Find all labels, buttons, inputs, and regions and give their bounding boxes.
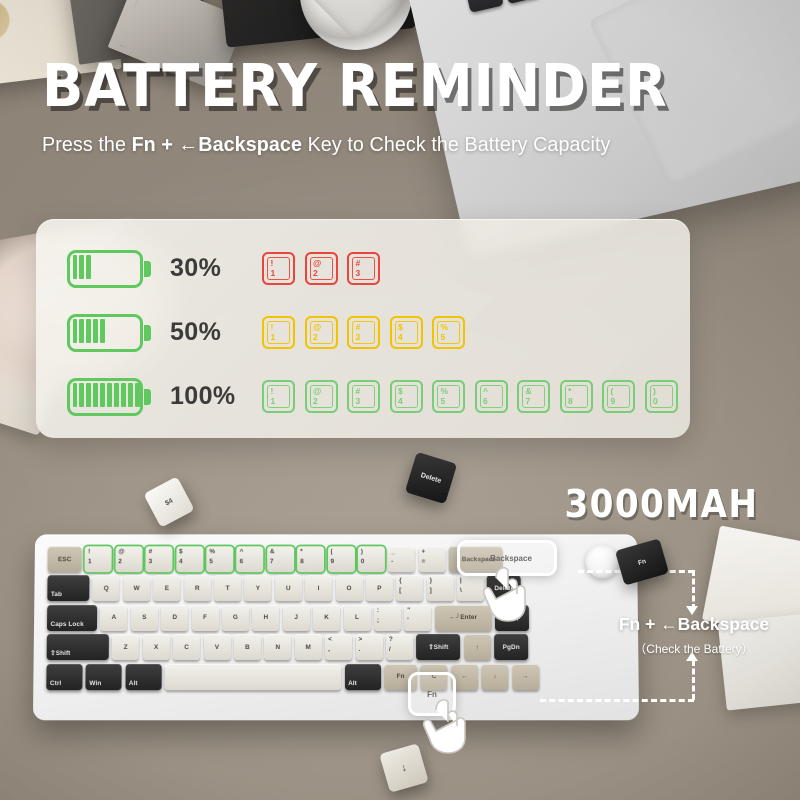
key-y[interactable]: Y — [244, 576, 271, 602]
key-label: Alt — [348, 680, 357, 687]
battery-bar — [73, 383, 77, 407]
key-legend-top: * — [300, 548, 303, 555]
key-enter[interactable]: ←┘Enter — [435, 605, 492, 631]
key-legend-bottom: / — [389, 646, 391, 653]
indicator-keycap: ^6 — [475, 380, 508, 413]
key-2[interactable]: @2 — [115, 546, 142, 572]
key-label: ← — [451, 664, 478, 690]
indicator-keycap: @2 — [305, 316, 338, 349]
key-e[interactable]: E — [153, 576, 180, 602]
key-label: Y — [244, 576, 271, 602]
key-label: D — [161, 605, 188, 631]
key-legend-top: & — [270, 548, 275, 555]
key-label: C — [420, 664, 447, 690]
key-legend-top: + — [421, 548, 425, 555]
key-label: ←Backspace — [449, 546, 503, 572]
indicator-keycap-top-legend: ! — [271, 322, 274, 332]
key-legend-bottom: ] — [430, 587, 432, 594]
key-label: Win — [89, 680, 101, 687]
key-legend-bottom: \ — [460, 587, 462, 594]
key-legend-bottom: - — [391, 558, 393, 565]
indicator-keycap: %5 — [432, 380, 465, 413]
header-block: BATTERY REMINDER Press the Fn + ←Backspa… — [42, 58, 682, 157]
keyboard-row: CtrlWinAltAltFnC←↓→ — [46, 664, 625, 690]
key-alt[interactable]: Alt — [345, 664, 381, 690]
battery-percent-label: 50% — [170, 318, 248, 347]
battery-bar — [73, 319, 77, 343]
callout-line-bottom — [540, 699, 694, 702]
key-legend-bottom: . — [359, 646, 361, 653]
key-legend-bottom: 0 — [361, 558, 365, 565]
indicator-keycap: $4 — [390, 316, 423, 349]
indicator-keycap-bottom-legend: 1 — [271, 268, 276, 278]
key-legend-bottom: 1 — [88, 558, 92, 565]
key-label: H — [252, 605, 279, 631]
indicator-keycap: )0 — [645, 380, 678, 413]
indicator-keycap: %5 — [432, 316, 465, 349]
key-c[interactable]: C — [173, 634, 200, 660]
key-label: J — [283, 605, 310, 631]
key-delete[interactable]: Delete — [487, 576, 521, 602]
key-space[interactable]: ?/ — [386, 634, 413, 660]
indicator-keycap-bottom-legend: 8 — [568, 396, 573, 406]
key-label: L — [344, 605, 371, 631]
subtitle-shortcut: Fn + ←Backspace — [132, 133, 302, 156]
key-label: ←┘Enter — [435, 605, 492, 631]
battery-level-bars — [73, 255, 91, 279]
key-z[interactable]: Z — [112, 634, 139, 660]
key-space[interactable]: _- — [388, 546, 415, 572]
key-space[interactable]: }] — [427, 576, 454, 602]
battery-percent-label: 100% — [170, 382, 248, 411]
key-legend-top: ^ — [240, 548, 244, 555]
key-1[interactable]: !1 — [85, 546, 112, 572]
key-p[interactable]: P — [366, 576, 393, 602]
key-legend-top: # — [149, 548, 153, 555]
key-label: ↑ — [464, 634, 491, 660]
key-7[interactable]: &7 — [267, 546, 294, 572]
key-g[interactable]: G — [222, 605, 249, 631]
indicator-keycap-bottom-legend: 2 — [313, 396, 318, 406]
indicator-keycap: #3 — [347, 380, 380, 413]
battery-bar — [93, 383, 97, 407]
key-win[interactable]: Win — [86, 664, 122, 690]
key-legend-top: | — [460, 578, 462, 585]
battery-bar — [135, 383, 139, 407]
key-fn[interactable]: Fn — [384, 664, 417, 690]
key-label: Ctrl — [50, 680, 62, 687]
key-legend-top: " — [407, 607, 410, 614]
indicator-keycap: !1 — [262, 316, 295, 349]
indicator-key-group: !1@2#3$4%5^6&7*8(9)0 — [262, 380, 678, 413]
battery-legend-row: 30%!1@2#3 — [36, 241, 690, 296]
key-q[interactable]: Q — [93, 576, 120, 602]
indicator-keycap-top-legend: # — [356, 258, 361, 268]
indicator-keycap-top-legend: * — [568, 386, 571, 396]
key-legend-top: ) — [361, 548, 363, 555]
key-legend-top: > — [359, 636, 363, 643]
indicator-keycap-top-legend: % — [441, 322, 449, 332]
key-c[interactable]: C — [420, 664, 447, 690]
indicator-keycap-bottom-legend: 2 — [313, 268, 318, 278]
key-label: F — [192, 605, 219, 631]
key-backspace[interactable]: ←Backspace — [449, 546, 503, 572]
battery-icon — [67, 250, 150, 288]
key-label: G — [222, 605, 249, 631]
battery-bar — [114, 383, 118, 407]
keyboard-row: ⇧ShiftZXCVBNM<,>.?/⇧Shift↑PgDn — [47, 634, 626, 660]
key-label: S — [131, 605, 158, 631]
indicator-keycap-bottom-legend: 4 — [398, 332, 403, 342]
key-label: T — [214, 576, 241, 602]
key-s[interactable]: S — [131, 605, 158, 631]
key-b[interactable]: B — [234, 634, 261, 660]
key-space[interactable]: :; — [374, 605, 401, 631]
indicator-keycap-bottom-legend: 5 — [441, 332, 446, 342]
battery-legend-panel: 30%!1@2#350%!1@2#3$4%5100%!1@2#3$4%5^6&7… — [36, 219, 690, 438]
page-subtitle: Press the Fn + ←Backspace Key to Check t… — [42, 133, 656, 157]
subtitle-suffix: Key to Check the Battery Capacity — [302, 133, 610, 156]
keyboard-keys[interactable]: ESC!1@2#3$4%5^6&7*8(9)0_-+=←BackspaceTab… — [46, 546, 626, 706]
battery-bar — [79, 255, 83, 279]
key-space[interactable]: "' — [404, 605, 431, 631]
key-space[interactable]: |\ — [457, 576, 484, 602]
battery-bar — [73, 255, 77, 279]
battery-bar — [100, 383, 104, 407]
key-9[interactable]: (9 — [328, 546, 355, 572]
key-label: O — [336, 576, 363, 602]
battery-bar — [100, 319, 104, 343]
indicator-keycap-bottom-legend: 3 — [356, 268, 361, 278]
key-v[interactable]: V — [203, 634, 230, 660]
key-a[interactable]: A — [100, 605, 127, 631]
key-w[interactable]: W — [123, 576, 150, 602]
key-label: Delete — [487, 576, 521, 602]
indicator-keycap: $4 — [390, 380, 423, 413]
key-label: ESC — [48, 546, 82, 572]
key-legend-top: ( — [331, 548, 333, 555]
indicator-keycap-bottom-legend: 5 — [441, 396, 446, 406]
key-space[interactable]: ← — [451, 664, 478, 690]
battery-icon — [67, 314, 150, 352]
battery-terminal — [144, 261, 151, 277]
key-label: K — [313, 605, 340, 631]
key-label: Z — [112, 634, 139, 660]
key-u[interactable]: U — [275, 576, 302, 602]
key-ctrl[interactable]: Ctrl — [46, 664, 82, 690]
key-space[interactable]: += — [418, 546, 445, 572]
key-j[interactable]: J — [283, 605, 310, 631]
key-label: R — [184, 576, 211, 602]
indicator-keycap-bottom-legend: 2 — [313, 332, 318, 342]
key-label: E — [153, 576, 180, 602]
key-shift[interactable]: ⇧Shift — [47, 634, 109, 660]
page-title: BATTERY REMINDER — [42, 58, 631, 115]
key-tab[interactable]: Tab — [47, 576, 89, 602]
key-o[interactable]: O — [336, 576, 363, 602]
battery-bar — [93, 319, 97, 343]
key-label: Tab — [51, 591, 62, 598]
indicator-keycap-top-legend: ( — [611, 386, 614, 396]
key-alt[interactable]: Alt — [125, 664, 161, 690]
indicator-keycap-top-legend: # — [356, 322, 361, 332]
key-legend-bottom: 5 — [209, 558, 213, 565]
key-space[interactable]: ↑ — [464, 634, 491, 660]
key-r[interactable]: R — [184, 576, 211, 602]
key-legend-bottom: [ — [399, 587, 401, 594]
keyboard-row: Caps LockASDFGHJKL:;"'←┘EnterPgUp — [47, 605, 625, 631]
indicator-keycap: #3 — [347, 316, 380, 349]
indicator-keycap-top-legend: ^ — [483, 386, 488, 396]
key-label: → — [512, 664, 539, 690]
key-space[interactable]: {[ — [396, 576, 423, 602]
key-space[interactable]: >. — [356, 634, 383, 660]
callout-line-right-top — [692, 570, 695, 610]
key-legend-bottom: 4 — [179, 558, 183, 565]
indicator-keycap-top-legend: % — [441, 386, 449, 396]
key-space[interactable]: → — [512, 664, 539, 690]
key-label: N — [264, 634, 291, 660]
key-label: I — [305, 576, 332, 602]
key-t[interactable]: T — [214, 576, 241, 602]
key-label: ⇧Shift — [50, 649, 70, 657]
indicator-keycap-bottom-legend: 6 — [483, 396, 488, 406]
key-m[interactable]: M — [295, 634, 322, 660]
indicator-keycap: &7 — [517, 380, 550, 413]
callout-shortcut: Fn + ←Backspace — [592, 614, 796, 635]
key-legend-bottom: ; — [377, 617, 379, 624]
indicator-keycap-bottom-legend: 7 — [526, 396, 531, 406]
battery-terminal — [144, 325, 151, 341]
battery-bar — [86, 255, 90, 279]
key-label: ⇧Shift — [416, 634, 460, 660]
key-n[interactable]: N — [264, 634, 291, 660]
key-esc[interactable]: ESC — [48, 546, 82, 572]
key-label: W — [123, 576, 150, 602]
key-label: Caps Lock — [50, 621, 83, 628]
key-label: PgUp — [495, 605, 529, 631]
battery-bar — [79, 383, 83, 407]
key-pgdn[interactable]: PgDn — [494, 634, 528, 660]
key-legend-top: ! — [88, 548, 90, 555]
keyboard[interactable]: ESC!1@2#3$4%5^6&7*8(9)0_-+=←BackspaceTab… — [33, 534, 639, 720]
indicator-keycap: (9 — [602, 380, 635, 413]
indicator-key-group: !1@2#3$4%5 — [262, 316, 465, 349]
key-caps-lock[interactable]: Caps Lock — [47, 605, 97, 631]
indicator-keycap: !1 — [262, 380, 295, 413]
battery-bar — [121, 383, 125, 407]
key-d[interactable]: D — [161, 605, 188, 631]
key-label: PgDn — [494, 634, 528, 660]
key-legend-bottom: 6 — [240, 558, 244, 565]
key-space[interactable]: <, — [325, 634, 352, 660]
battery-icon — [67, 378, 150, 416]
key-label: Q — [93, 576, 120, 602]
key-legend-bottom: = — [421, 558, 425, 565]
key-legend-top: : — [377, 607, 379, 614]
indicator-keycap-top-legend: @ — [313, 258, 321, 268]
key-legend-bottom: 8 — [300, 558, 304, 565]
indicator-keycap-bottom-legend: 9 — [611, 396, 616, 406]
key-label: U — [275, 576, 302, 602]
indicator-keycap-bottom-legend: 3 — [356, 332, 361, 342]
indicator-keycap-bottom-legend: 4 — [398, 396, 403, 406]
key-l[interactable]: L — [344, 605, 371, 631]
battery-bar — [86, 319, 90, 343]
battery-bar — [79, 319, 83, 343]
indicator-keycap-top-legend: # — [356, 386, 361, 396]
key-label — [165, 664, 341, 690]
indicator-key-group: !1@2#3 — [262, 252, 380, 285]
indicator-keycap-top-legend: ! — [271, 258, 274, 268]
key-legend-top: ? — [389, 636, 393, 643]
key-5[interactable]: %5 — [206, 546, 233, 572]
indicator-keycap: @2 — [305, 380, 338, 413]
key-8[interactable]: *8 — [297, 546, 324, 572]
indicator-keycap: !1 — [262, 252, 295, 285]
battery-terminal — [144, 389, 151, 405]
key-label: Alt — [129, 680, 138, 687]
key-4[interactable]: $4 — [176, 546, 203, 572]
key-legend-bottom: 3 — [149, 558, 153, 565]
battery-legend-rows: 30%!1@2#350%!1@2#3$4%5100%!1@2#3$4%5^6&7… — [36, 219, 690, 438]
indicator-keycap-bottom-legend: 0 — [653, 396, 658, 406]
shortcut-callout: Fn + ←Backspace （Check the Battery） — [592, 614, 796, 657]
key-legend-bottom: 7 — [270, 558, 274, 565]
key-legend-top: @ — [118, 548, 124, 555]
keyboard-row: TabQWERTYUIOP{[}]|\Delete — [47, 576, 624, 602]
battery-level-bars — [73, 319, 105, 343]
key-x[interactable]: X — [143, 634, 170, 660]
key-3[interactable]: #3 — [146, 546, 173, 572]
key-label: C — [173, 634, 200, 660]
key-label: Fn — [384, 664, 417, 690]
key-label: B — [234, 634, 261, 660]
key-label: P — [366, 576, 393, 602]
key-legend-bottom: 9 — [331, 558, 335, 565]
key-0[interactable]: )0 — [358, 546, 385, 572]
key-label: M — [295, 634, 322, 660]
key-6[interactable]: ^6 — [237, 546, 264, 572]
key-f[interactable]: F — [192, 605, 219, 631]
indicator-keycap-top-legend: ) — [653, 386, 656, 396]
battery-legend-row: 50%!1@2#3$4%5 — [36, 305, 690, 360]
indicator-keycap-bottom-legend: 3 — [356, 396, 361, 406]
key-legend-top: % — [209, 548, 215, 555]
callout-description: （Check the Battery） — [592, 640, 796, 657]
battery-legend-row: 100%!1@2#3$4%5^6&7*8(9)0 — [36, 369, 690, 424]
indicator-keycap-top-legend: $ — [398, 386, 403, 396]
key-space[interactable] — [165, 664, 341, 690]
key-label: ↓ — [481, 664, 508, 690]
key-h[interactable]: H — [252, 605, 279, 631]
key-legend-top: _ — [391, 548, 395, 555]
keyboard-row: ESC!1@2#3$4%5^6&7*8(9)0_-+=←Backspace — [48, 546, 625, 572]
key-space[interactable]: ↓ — [481, 664, 508, 690]
battery-percent-label: 30% — [170, 254, 248, 283]
indicator-keycap: @2 — [305, 252, 338, 285]
indicator-keycap-top-legend: @ — [313, 322, 321, 332]
key-legend-bottom: , — [328, 646, 330, 653]
capacity-label: 3000MAH — [564, 482, 758, 526]
indicator-keycap: *8 — [560, 380, 593, 413]
key-legend-top: $ — [179, 548, 183, 555]
key-label: A — [100, 605, 127, 631]
key-legend-bottom: 2 — [118, 558, 122, 565]
callout-line-right-bottom — [692, 660, 695, 700]
battery-bar — [128, 383, 132, 407]
key-pgup[interactable]: PgUp — [495, 605, 529, 631]
battery-bar — [86, 383, 90, 407]
volume-knob[interactable] — [585, 544, 619, 578]
key-legend-top: { — [399, 578, 402, 585]
battery-bar — [107, 383, 111, 407]
indicator-keycap-top-legend: $ — [398, 322, 403, 332]
indicator-keycap-top-legend: @ — [313, 386, 321, 396]
indicator-keycap: #3 — [347, 252, 380, 285]
indicator-keycap-bottom-legend: 1 — [271, 332, 276, 342]
key-legend-top: < — [328, 636, 332, 643]
infographic-stage: BATTERY REMINDER Press the Fn + ←Backspa… — [0, 0, 800, 800]
subtitle-prefix: Press the — [42, 133, 132, 156]
key-label: V — [203, 634, 230, 660]
key-label: X — [143, 634, 170, 660]
key-i[interactable]: I — [305, 576, 332, 602]
indicator-keycap-top-legend: & — [526, 386, 532, 396]
indicator-keycap-top-legend: ! — [271, 386, 274, 396]
battery-level-bars — [73, 383, 140, 407]
key-k[interactable]: K — [313, 605, 340, 631]
key-legend-top: } — [430, 578, 433, 585]
key-legend-bottom: ' — [407, 617, 409, 624]
key-shift[interactable]: ⇧Shift — [416, 634, 460, 660]
indicator-keycap-bottom-legend: 1 — [271, 396, 276, 406]
